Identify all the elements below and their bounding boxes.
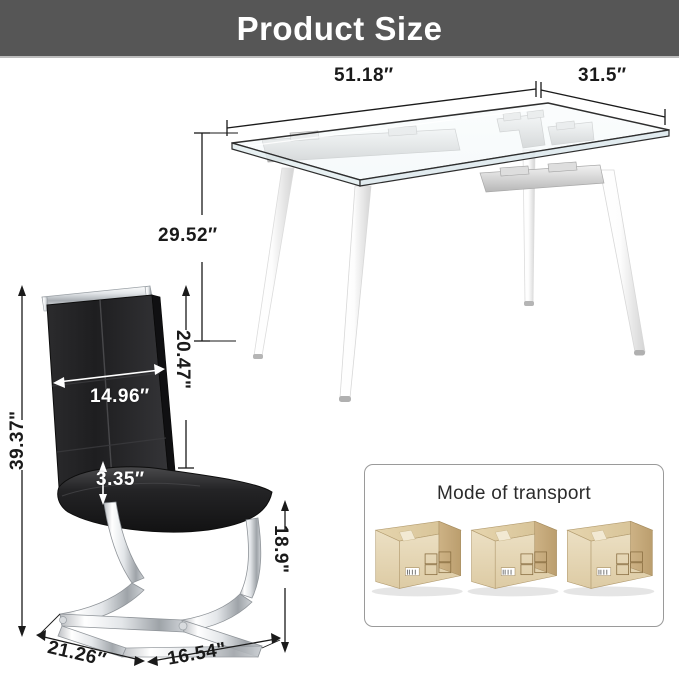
- product-size-infographic: Product Size: [0, 0, 679, 673]
- carton-3: [563, 521, 654, 596]
- dimension-label-chair-back-height: 20.47": [173, 330, 192, 390]
- dimension-label-chair-seat-height: 18.9": [271, 525, 290, 574]
- transport-panel: Mode of transport: [364, 464, 664, 627]
- transport-boxes: [365, 465, 663, 626]
- dimension-label-chair-back-width: 14.96″: [90, 387, 150, 406]
- dimension-label-chair-total-height: 39.37": [8, 410, 27, 470]
- carton-1: [372, 521, 463, 596]
- carton-2: [468, 521, 559, 596]
- chair-seat: [58, 467, 272, 532]
- dimension-label-chair-seat-thickness: 3.35″: [96, 470, 145, 489]
